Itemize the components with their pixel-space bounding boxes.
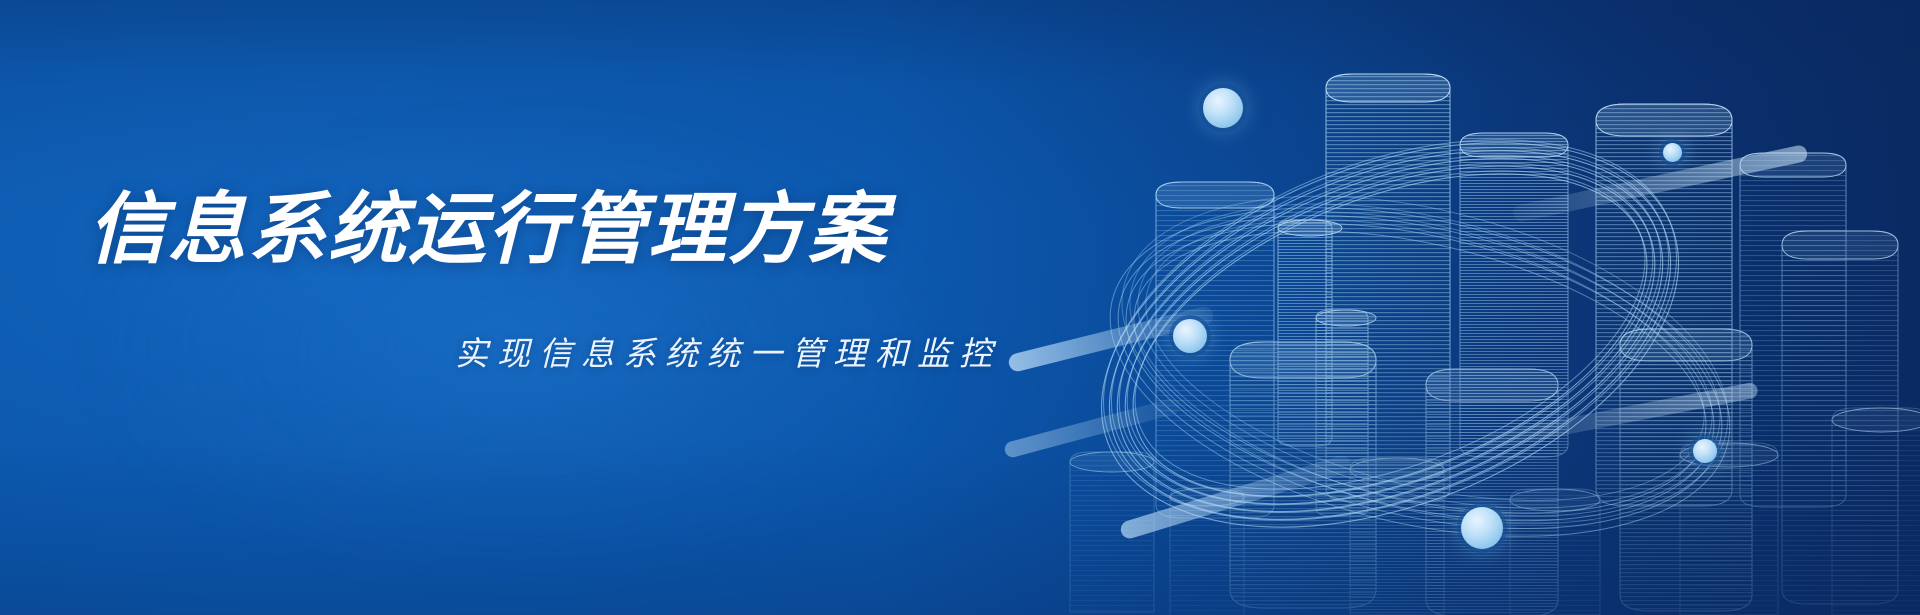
orb-tiny-top [1663,143,1682,162]
background-vignette [0,0,1920,615]
orb-lower-big [1461,507,1503,549]
hero-banner: 信息系统运行管理方案 实现信息系统统一管理和监控 [0,0,1920,615]
orb-upper-left [1203,88,1243,128]
orb-mid-left [1173,319,1207,353]
orb-small-right [1693,439,1717,463]
